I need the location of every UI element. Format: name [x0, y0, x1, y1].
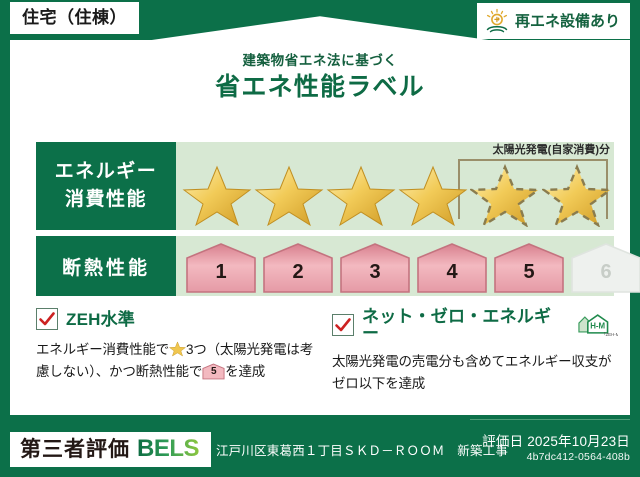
criterion-zeh-text-1: エネルギー消費性能で: [36, 342, 169, 357]
star-icon-pv: [470, 161, 540, 227]
insulation-level-number: 5: [202, 367, 225, 377]
check-icon: [332, 314, 354, 336]
star-icon-pv: [542, 161, 612, 227]
title-subtitle: 建築物省エネ法に基づく: [10, 54, 630, 68]
bels-en-label: BELS: [137, 437, 199, 461]
star-icon: [398, 161, 468, 227]
insulation-level-badge: 4: [415, 242, 489, 294]
svg-text:H-M: H-M: [590, 321, 605, 330]
energy-key-line2: 消費性能: [65, 186, 147, 214]
footer-divider: [470, 419, 630, 420]
house-type-badge: 住宅（住棟）: [10, 2, 139, 34]
insulation-level-number: 3: [338, 262, 412, 282]
insulation-level-number: 4: [415, 262, 489, 282]
energy-performance-key: エネルギー 消費性能: [36, 142, 176, 230]
criterion-zeh-header: ZEH水準: [36, 308, 322, 330]
insulation-level-badge-inline: 5: [202, 363, 225, 380]
page-title: 省エネ性能ラベル: [10, 75, 630, 100]
criterion-net-zero-header: ネット・ゼロ・エネルギー H-M 「ZEH-M」: [332, 308, 618, 342]
insulation-performance-value: 1 2 3 4 5: [176, 236, 614, 296]
evaluation-date: 評価日 2025年10月23日: [482, 434, 630, 451]
energy-performance-label: 住宅（住棟） 再エネ設備あり 建築物省エネ法に基づく 省エネ性能ラベル: [0, 0, 640, 477]
insulation-level-number: 6: [569, 262, 640, 282]
zeh-m-logo-icon: H-M 「ZEH-M」: [575, 312, 618, 338]
insulation-level-scale: 1 2 3 4 5: [184, 242, 640, 294]
star-rating: [182, 161, 612, 227]
criterion-zeh-text-3: を達成: [225, 364, 265, 379]
insulation-level-badge: 2: [261, 242, 335, 294]
star-icon: [182, 161, 252, 227]
insulation-level-number: 5: [492, 262, 566, 282]
criterion-zeh-body: エネルギー消費性能で3つ（太陽光発電は考慮しない）、かつ断熱性能で5を達成: [36, 339, 322, 383]
insulation-level-badge: 5: [492, 242, 566, 294]
renewable-badge-label: 再エネ設備あり: [515, 14, 620, 29]
pv-caption: 太陽光発電(自家消費)分: [493, 141, 610, 157]
evaluation-id: 4b7dc412-0564-408b: [482, 451, 630, 465]
check-icon: [36, 308, 58, 330]
evaluation-meta: 評価日 2025年10月23日 4b7dc412-0564-408b: [482, 434, 630, 465]
star-icon: [254, 161, 324, 227]
criterion-net-zero-body: 太陽光発電の売電分も含めてエネルギー収支がゼロ以下を達成: [332, 351, 618, 395]
insulation-level-badge: 3: [338, 242, 412, 294]
title-block: 建築物省エネ法に基づく 省エネ性能ラベル: [10, 54, 630, 100]
building-address: 江戸川区東葛西１丁目ＳＫＤ－ＲＯＯＭ 新築工事: [216, 440, 508, 459]
insulation-level-number: 1: [184, 262, 258, 282]
criterion-zeh-title: ZEH水準: [66, 311, 135, 328]
energy-key-line1: エネルギー: [55, 158, 158, 186]
insulation-level-badge: 1: [184, 242, 258, 294]
energy-performance-row: エネルギー 消費性能 太陽光発電(自家消費)分: [36, 142, 614, 230]
star-icon: [169, 340, 186, 357]
bels-jp-label: 第三者評価: [20, 439, 130, 460]
criterion-net-zero-title: ネット・ゼロ・エネルギー: [362, 308, 566, 342]
sun-icon: [484, 8, 510, 34]
insulation-performance-row: 断熱性能 1 2 3: [36, 236, 614, 296]
star-icon: [326, 161, 396, 227]
insulation-level-number: 2: [261, 262, 335, 282]
label-body-panel: 建築物省エネ法に基づく 省エネ性能ラベル エネルギー 消費性能 太陽光発電(自家…: [10, 40, 630, 415]
insulation-level-badge: 6: [569, 242, 640, 294]
criterion-net-zero: ネット・ゼロ・エネルギー H-M 「ZEH-M」 太陽光発電の売電分も含めてエネ…: [332, 308, 618, 395]
criterion-zeh: ZEH水準 エネルギー消費性能で3つ（太陽光発電は考慮しない）、かつ断熱性能で5…: [36, 308, 322, 383]
bels-badge: 第三者評価 BELS: [10, 432, 211, 467]
insulation-performance-key: 断熱性能: [36, 236, 176, 296]
svg-text:「ZEH-M」: 「ZEH-M」: [601, 332, 618, 337]
energy-performance-value: 太陽光発電(自家消費)分: [176, 142, 614, 230]
renewable-equipment-badge: 再エネ設備あり: [477, 3, 630, 39]
